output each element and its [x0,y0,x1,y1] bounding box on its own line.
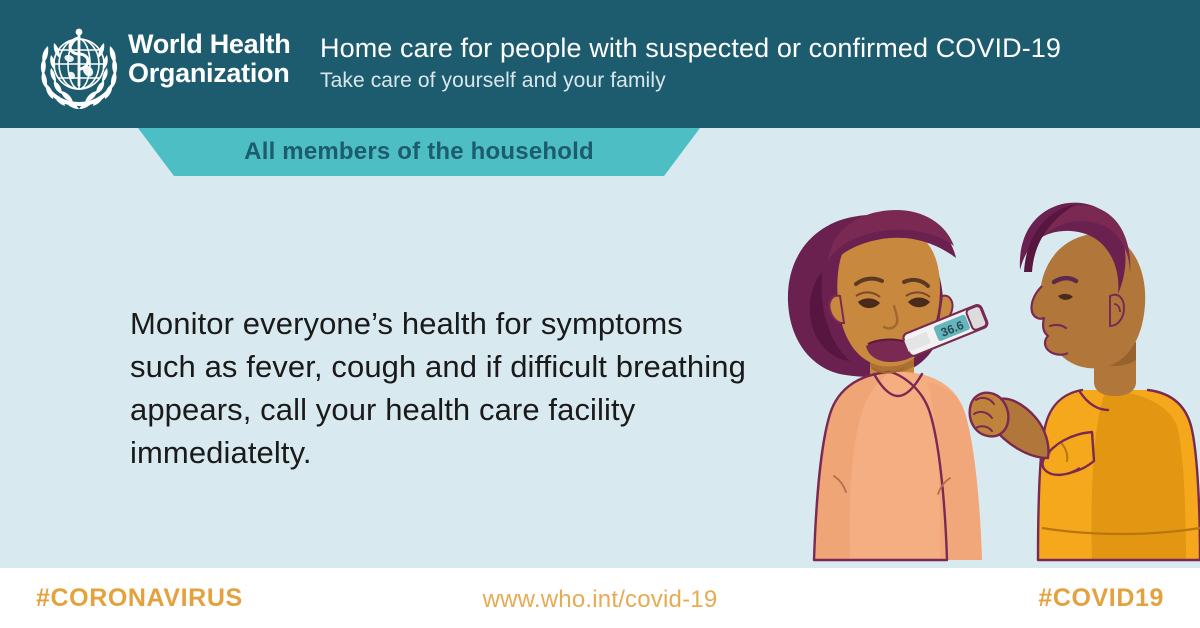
header-text-block: Home care for people with suspected or c… [320,32,1061,95]
section-banner: All members of the household [138,128,700,176]
infographic-page: World Health Organization Home care for … [0,0,1200,628]
hashtag-covid19[interactable]: #COVID19 [1038,584,1164,613]
who-emblem-icon [30,22,128,110]
header-subtitle: Take care of yourself and your family [320,67,1061,95]
section-banner-label: All members of the household [244,138,594,166]
who-wordmark-line1: World Health [128,30,290,59]
who-wordmark-line2: Organization [128,59,290,88]
who-wordmark: World Health Organization [128,30,290,88]
advice-text: Monitor everyone’s health for symptoms s… [130,302,755,474]
who-covid-url[interactable]: www.who.int/covid-19 [0,586,1200,614]
two-people-taking-temperature-illustration: 36.6 [762,176,1200,568]
header-title: Home care for people with suspected or c… [320,32,1061,65]
header-bar: World Health Organization Home care for … [0,0,1200,128]
footer-bar: #CORONAVIRUS www.who.int/covid-19 #COVID… [0,568,1200,628]
